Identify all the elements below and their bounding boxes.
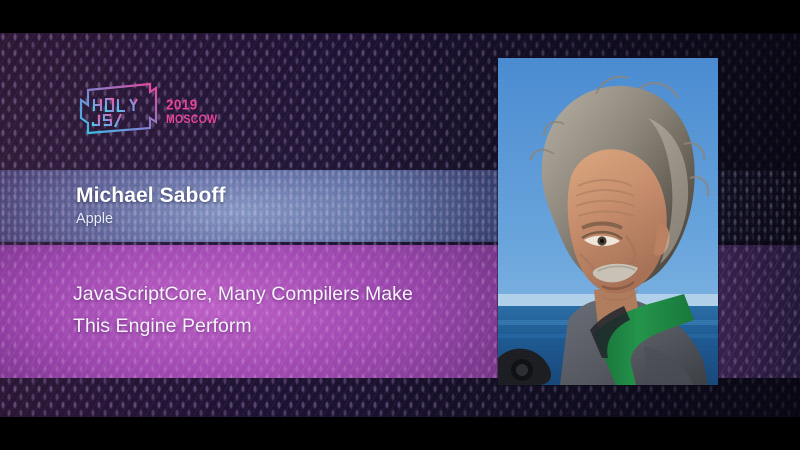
letterbox-bottom-bar [0,417,800,450]
talk-title-line-2: This Engine Perform [73,310,473,342]
svg-text:2019: 2019 [166,97,198,114]
talk-title-card: 2019 MOSCOW Michael Saboff Apple JavaScr… [0,0,800,450]
talk-title: JavaScriptCore, Many Compilers Make This… [73,278,473,342]
talk-title-line-1: JavaScriptCore, Many Compilers Make [73,278,473,310]
letterbox-top-bar [0,0,800,33]
svg-text:MOSCOW: MOSCOW [166,113,217,126]
holyjs-logo: 2019 MOSCOW [74,78,224,140]
speaker-company: Apple [76,210,226,229]
logo-wordmark-holy [94,99,137,111]
speaker-name: Michael Saboff [76,183,226,209]
logo-wordmark-js [93,114,138,127]
logo-year-city: 2019 MOSCOW [166,97,217,126]
slide-stage: 2019 MOSCOW Michael Saboff Apple JavaScr… [0,33,800,417]
speaker-photo [498,58,718,385]
speaker-info: Michael Saboff Apple [76,183,226,229]
